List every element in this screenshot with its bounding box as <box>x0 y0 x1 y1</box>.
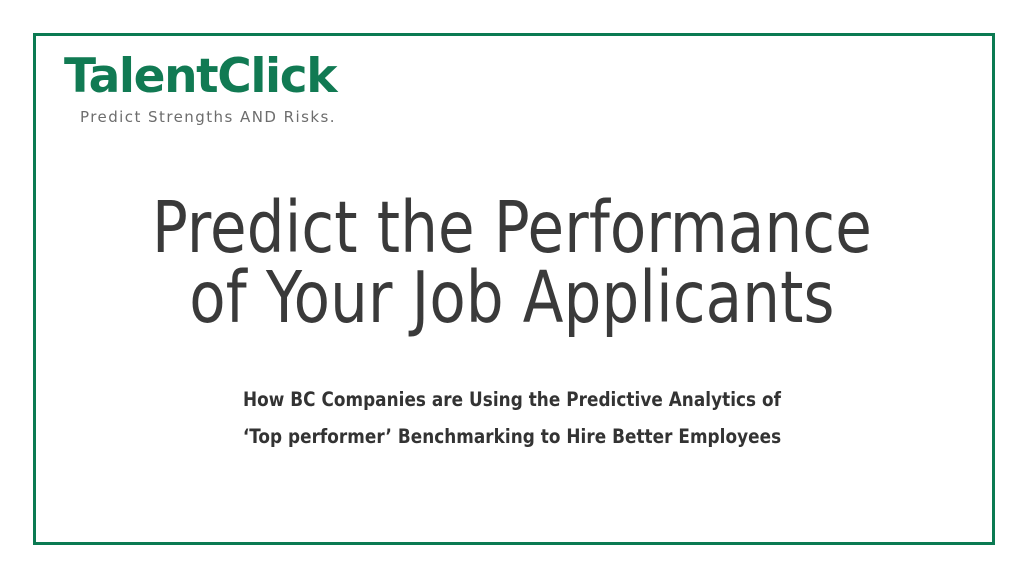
talentclick-logo: TalentClick Predict Strengths AND Risks. <box>64 52 484 127</box>
page-title-line-2: of Your Job Applicants <box>36 263 988 333</box>
page-title: Predict the Performance of Your Job Appl… <box>0 193 1024 333</box>
page-subtitle-line-2: ‘Top performer’ Benchmarking to Hire Bet… <box>20 418 1003 455</box>
page-subtitle-line-1: How BC Companies are Using the Predictiv… <box>20 381 1003 418</box>
page-subtitle: How BC Companies are Using the Predictiv… <box>0 381 1024 455</box>
logo-tagline: Predict Strengths AND Risks. <box>80 107 484 127</box>
logo-wordmark: TalentClick <box>64 52 484 102</box>
title-slide: TalentClick Predict Strengths AND Risks.… <box>0 0 1024 575</box>
page-title-line-1: Predict the Performance <box>36 193 988 263</box>
